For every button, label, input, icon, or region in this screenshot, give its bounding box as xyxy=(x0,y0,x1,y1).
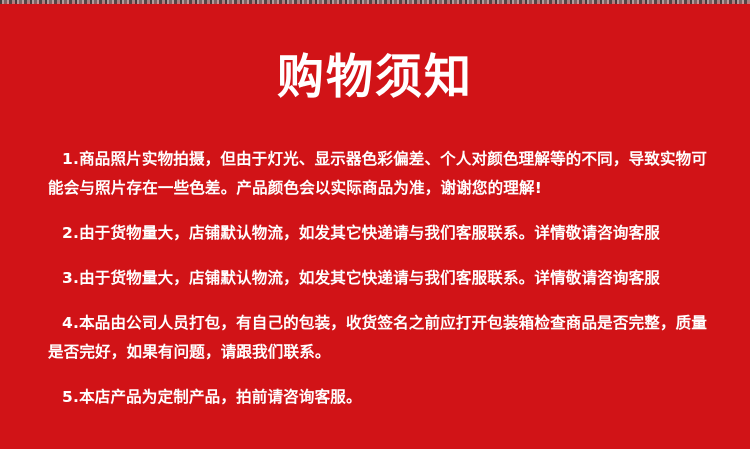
shopping-notice-banner: 购物须知 1.商品照片实物拍摄，但由于灯光、显示器色彩偏差、个人对颜色理解等的不… xyxy=(0,0,750,449)
notice-item-3: 3.由于货物量大，店铺默认物流，如发其它快递请与我们客服联系。详情敬请咨询客服 xyxy=(48,264,708,293)
top-edge-artifact-strip xyxy=(0,0,750,4)
notice-item-5: 5.本店产品为定制产品，拍前请咨询客服。 xyxy=(48,383,708,412)
notice-item-1: 1.商品照片实物拍摄，但由于灯光、显示器色彩偏差、个人对颜色理解等的不同，导致实… xyxy=(48,145,716,203)
notice-list: 1.商品照片实物拍摄，但由于灯光、显示器色彩偏差、个人对颜色理解等的不同，导致实… xyxy=(48,145,708,412)
notice-item-2: 2.由于货物量大，店铺默认物流，如发其它快递请与我们客服联系。详情敬请咨询客服 xyxy=(48,219,708,248)
page-title: 购物须知 xyxy=(0,50,750,106)
notice-item-4: 4.本品由公司人员打包，有自己的包装，收货签名之前应打开包装箱检查商品是否完整，… xyxy=(48,309,716,367)
